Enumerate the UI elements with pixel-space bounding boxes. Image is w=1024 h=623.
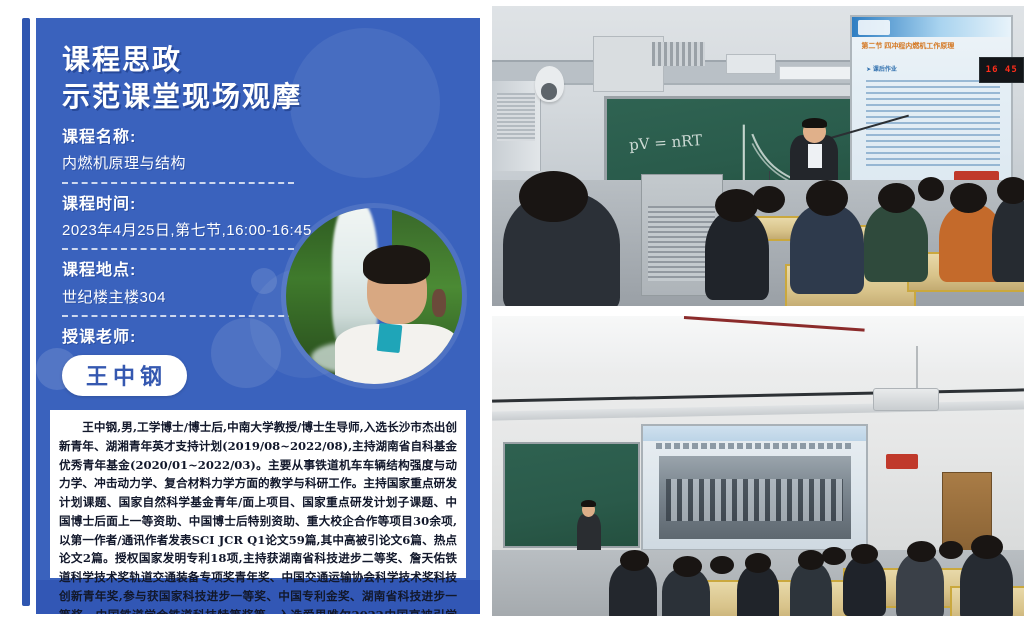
teacher-portrait-photo — [286, 208, 462, 384]
student-head — [798, 550, 825, 570]
lecturer-hair — [802, 118, 828, 129]
screenshot-canvas: 课程思政 示范课堂现场观摩 课程名称: 内燃机原理与结构 课程时间: 2023年… — [0, 0, 1024, 623]
field-divider — [62, 182, 294, 184]
slide-logo — [858, 20, 890, 35]
student-head — [673, 556, 702, 577]
course-name-field: 课程名称: 内燃机原理与结构 — [62, 124, 312, 177]
student-head — [878, 183, 915, 213]
course-time-value: 2023年4月25日,第七节,16:00-16:45 — [62, 218, 312, 244]
ceiling-projector — [873, 388, 939, 411]
slide-header-band — [643, 426, 866, 441]
security-camera-icon — [535, 66, 564, 102]
poster-title-line1: 课程思政 — [62, 42, 302, 79]
student-silhouette — [790, 204, 864, 294]
slide-subtitle: ➤ 课后作业 — [866, 64, 897, 73]
student-silhouette — [790, 562, 833, 616]
poster-body: 课程思政 示范课堂现场观摩 课程名称: 内燃机原理与结构 课程时间: 2023年… — [36, 18, 480, 614]
slide-title-placeholder — [656, 443, 853, 449]
slide-diagram-image — [659, 456, 851, 540]
student-head — [519, 171, 588, 222]
student-head — [851, 544, 878, 564]
student-head — [822, 547, 846, 565]
student-head — [997, 177, 1024, 204]
teacher-bio-text: 王中钢,男,工学博士/博士后,中南大学教授/博士生导师,入选长沙市杰出创新青年、… — [59, 418, 457, 614]
student-silhouette — [843, 556, 886, 616]
student-silhouette — [737, 565, 780, 616]
student-head — [715, 189, 758, 222]
teacher-name-badge: 王中钢 — [62, 355, 187, 396]
field-divider — [62, 315, 294, 317]
decorative-circle — [211, 318, 281, 388]
student-head — [918, 177, 945, 201]
course-time-field: 课程时间: 2023年4月25日,第七节,16:00-16:45 — [62, 191, 312, 244]
poster-accent-strip — [22, 18, 30, 606]
field-divider — [62, 248, 294, 250]
course-info-list: 课程名称: 内燃机原理与结构 课程时间: 2023年4月25日,第七节,16:0… — [62, 124, 312, 324]
student-head — [710, 556, 734, 574]
poster-title-line2: 示范课堂现场观摩 — [62, 79, 302, 116]
student-head — [745, 553, 772, 573]
student-head — [806, 180, 849, 216]
teacher-label: 授课老师: — [62, 323, 187, 347]
course-name-value: 内燃机原理与结构 — [62, 151, 312, 177]
student-head — [950, 183, 987, 213]
portrait-background-person — [432, 289, 446, 317]
projector-mount-arm — [916, 346, 918, 391]
course-name-label: 课程名称: — [62, 124, 312, 151]
teacher-bio-box: 王中钢,男,工学博士/博士后,中南大学教授/博士生导师,入选长沙市杰出创新青年、… — [50, 410, 466, 578]
student-silhouette — [960, 550, 1013, 616]
course-location-label: 课程地点: — [62, 257, 312, 284]
slide-title: 第二节 四冲程内燃机工作原理 — [861, 41, 1005, 51]
student-silhouette — [864, 204, 928, 282]
portrait-hair — [363, 245, 430, 284]
poster-title: 课程思政 示范课堂现场观摩 — [62, 42, 302, 116]
air-conditioner-vents — [497, 93, 534, 141]
student-head — [753, 186, 785, 213]
green-blackboard — [503, 442, 640, 548]
student-silhouette — [992, 198, 1024, 282]
course-poster: 课程思政 示范课堂现场观摩 课程名称: 内燃机原理与结构 课程时间: 2023年… — [12, 8, 480, 616]
course-time-label: 课程时间: — [62, 191, 312, 218]
ceiling-red-pipe — [684, 316, 865, 343]
projection-screen-slide — [641, 424, 868, 551]
course-location-value: 世纪楼主楼304 — [62, 285, 312, 311]
course-location-field: 课程地点: 世纪楼主楼304 — [62, 257, 312, 310]
student-silhouette — [705, 210, 769, 300]
wall-device-box — [726, 54, 776, 74]
lecturer-hair — [581, 500, 596, 508]
student-head — [971, 535, 1003, 559]
student-head — [939, 541, 963, 559]
teacher-block: 授课老师: 王中钢 — [62, 323, 187, 396]
decorative-circle — [290, 28, 440, 178]
wall-vent-grille — [652, 42, 705, 66]
student-silhouette — [896, 553, 944, 616]
exit-sign — [886, 454, 918, 469]
student-head — [620, 550, 649, 571]
digital-clock-time: 16 45 — [986, 65, 1018, 75]
lecturer-shirt — [808, 144, 822, 168]
student-head — [907, 541, 936, 562]
classroom-photo-lecture: pV = nRT 第二节 四冲程内燃机工作原理 ➤ 课后作业 16 45 — [492, 6, 1024, 306]
portrait-collar-stripe — [376, 323, 402, 353]
classroom-photo-wide — [492, 316, 1024, 616]
digital-clock: 16 45 — [979, 57, 1024, 83]
